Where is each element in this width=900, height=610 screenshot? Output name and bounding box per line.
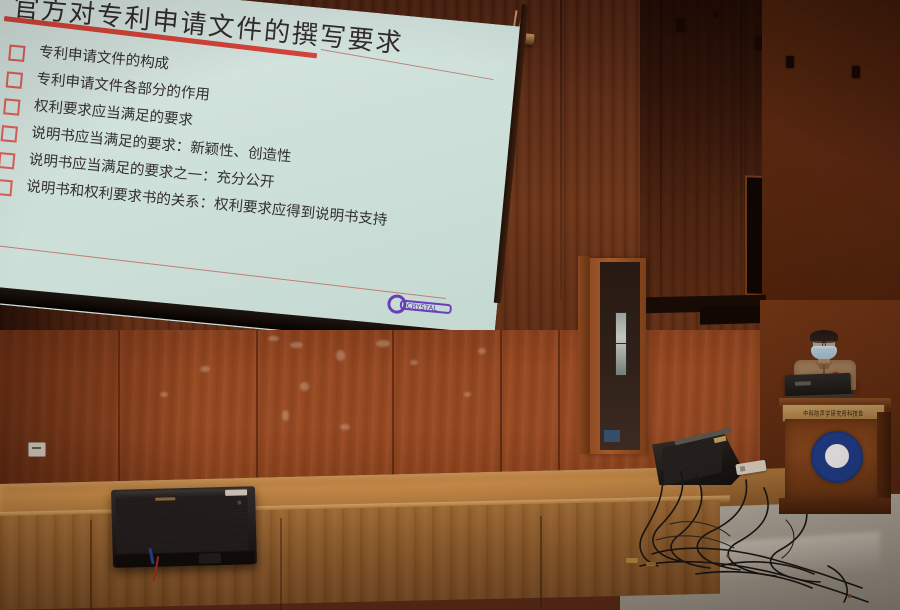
panel-seam <box>558 330 560 484</box>
wall-scuff <box>282 410 289 421</box>
crystal-logo-icon: CRYSTAL <box>386 293 458 319</box>
wall-vent-icon <box>676 18 685 32</box>
stage-panel-seam <box>280 518 282 610</box>
corridor-floor-object <box>604 430 620 442</box>
checkbox-icon <box>3 98 20 115</box>
wall-scuff <box>290 342 303 348</box>
wall-scuff <box>376 340 390 347</box>
wall-vent-icon <box>852 66 860 78</box>
wall-vent-icon <box>786 56 794 68</box>
wall-power-outlet[interactable] <box>28 442 46 457</box>
stage-panel-seam <box>540 516 542 608</box>
wall-scuff <box>464 392 471 397</box>
wall-scuff <box>268 336 279 341</box>
podium: 中科院声学研究所科技处 <box>779 398 891 520</box>
wall-scuff <box>160 392 168 397</box>
wall-scuff <box>340 424 350 430</box>
right-wall-upper <box>762 0 900 310</box>
checkbox-icon <box>0 179 13 196</box>
podium-nameplate-text: 中科院声学研究所科技处 <box>803 408 864 417</box>
lower-wall-shadow <box>0 330 200 490</box>
wall-seam <box>560 0 562 300</box>
wall-scuff <box>336 350 345 361</box>
panel-seam <box>392 330 394 488</box>
laptop-logo-icon <box>795 381 811 386</box>
speaker-sticker <box>225 489 247 496</box>
door-leaf[interactable] <box>578 256 590 454</box>
svg-text:CRYSTAL: CRYSTAL <box>406 302 437 313</box>
slide-bullet-list: 专利申请文件的构成 专利申请文件各部分的作用 权利要求应当满足的要求 <box>0 40 502 248</box>
laptop-on-podium[interactable] <box>785 373 852 401</box>
wall-scuff <box>200 366 210 372</box>
wall-scuff <box>478 348 486 354</box>
institute-emblem-icon <box>811 431 863 483</box>
floor-monitor-speaker <box>111 486 257 568</box>
speaker-grille <box>115 495 248 553</box>
checkbox-icon <box>8 45 25 62</box>
wall-scuff <box>410 360 418 365</box>
stage-panel-seam <box>90 520 92 610</box>
wall-vent-icon <box>714 12 718 17</box>
slide-footer-divider <box>0 243 446 299</box>
checkbox-icon <box>0 152 15 169</box>
speaker-brand-label <box>155 497 175 501</box>
bullet-text: 专利申请文件的构成 <box>38 43 170 75</box>
panel-seam <box>256 330 258 490</box>
speaker-led-icon <box>237 500 241 504</box>
corridor-window <box>615 312 627 376</box>
stage-front-panel <box>0 500 720 610</box>
panel-seam <box>118 330 120 490</box>
projection-screen-assembly: 官方对专利申请文件的撰写要求 专利申请文件的构成 专利申请文件各部分的作用 <box>0 0 530 320</box>
wall-scuff <box>300 382 309 391</box>
face-mask-icon <box>811 346 837 359</box>
checkbox-icon <box>6 71 23 88</box>
lecture-hall-photo: 官方对专利申请文件的撰写要求 专利申请文件的构成 专利申请文件各部分的作用 <box>0 0 900 610</box>
panel-seam <box>500 330 502 486</box>
checkbox-icon <box>1 125 18 142</box>
speaker-port <box>199 553 221 564</box>
stage-wedge-monitor <box>652 425 744 487</box>
